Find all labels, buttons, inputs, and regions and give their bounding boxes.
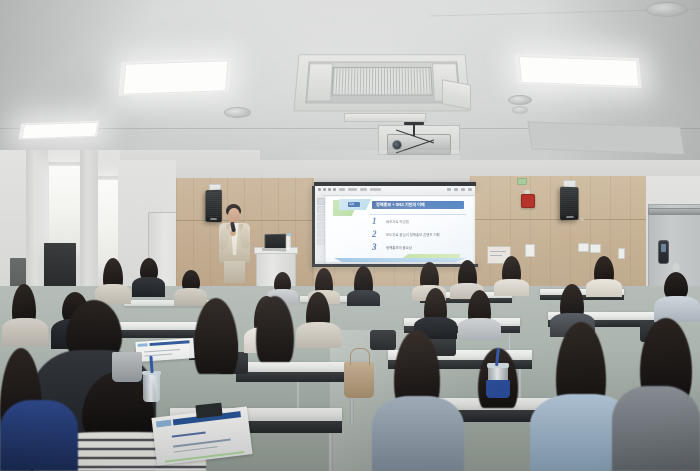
alarm-bell-icon [524,190,530,194]
ceiling-speaker-icon [224,107,251,118]
handout-text-line [144,349,180,353]
slide-item-text: 보도자료 중심의 정책홍보 콘텐츠 기획 [386,233,440,237]
door-keypad-lock[interactable] [658,240,669,264]
ceiling-vent-icon [512,106,528,114]
water-bottle [286,236,291,250]
speaker-badge [210,218,217,220]
desk-leg [328,433,333,471]
bag-on-chair [112,352,142,382]
door-closer-bar [648,208,700,215]
slide-thumbnail[interactable] [317,198,325,205]
window-blind [48,165,82,245]
slide-item-number: 2 [372,229,377,239]
ac-lower-vane [344,113,427,122]
toolbar-dot [323,188,326,191]
handbag-strap [350,348,370,365]
laptop-base [262,248,286,251]
handout-text-line [174,446,218,452]
toolbar-menu[interactable] [339,188,381,191]
printed-handout[interactable] [135,338,194,362]
slide-badge-label: 목차 [349,202,355,207]
attendee-shoulders [494,279,529,296]
slide-footer-band [334,258,466,262]
attendee-shoulders [372,396,464,471]
lecture-room-photo: 목차 정책홍보 + SNS 기반의 이해 1 배포자료 작성법 2 보도자료 중… [0,0,700,471]
slide-divider [370,214,466,215]
cup-sleeve [486,380,510,398]
attendee-shoulders [0,400,78,471]
attendee-shoulders [2,318,48,346]
led-panel-light-off [527,121,684,154]
slide-thumbnail[interactable] [317,206,325,213]
wall-outlet-plate[interactable] [590,244,601,253]
toolbar-button [447,188,451,191]
slide-badge: 목차 [348,202,360,207]
projection-screen: 목차 정책홍보 + SNS 기반의 이해 1 배포자료 작성법 2 보도자료 중… [315,186,475,264]
menu-item [360,188,367,191]
wall-sensor-icon [618,248,625,259]
led-panel-light [519,56,640,87]
projector-lens-icon [392,140,402,150]
bottle-cap [287,233,291,236]
attendee-shoulders [296,322,341,348]
wall-switch-plate[interactable] [525,244,535,257]
toolbar-button [461,188,465,191]
attendee-shoulders [174,288,207,306]
slide-item-text: 배포자료 작성법 [386,220,409,224]
speaker-mesh-icon [561,188,577,215]
iced-drink-cup [143,374,160,402]
ac-grill-icon [331,67,432,95]
current-slide: 목차 정책홍보 + SNS 기반의 이해 1 배포자료 작성법 2 보도자료 중… [326,197,473,262]
projector-ceiling-plate [404,122,424,125]
handout-tab [156,420,172,428]
wall-speaker-left [205,190,221,223]
wood-panel-seam [176,220,314,221]
projector-mount-arm [413,124,415,136]
handout-tab [138,343,148,347]
toolbar-controls[interactable] [318,188,336,191]
attendee-shoulders [347,290,380,306]
handout-text-line [172,432,206,438]
speaker-badge [566,216,574,218]
keypad-screen-icon [661,244,666,252]
slide-thumbnail-panel[interactable] [315,195,325,264]
toolbar-button [468,188,472,191]
handout-title-band [149,340,189,346]
toolbar-dot [328,188,331,191]
toolbar-right-controls[interactable] [447,188,472,191]
slide-thumbnail[interactable] [317,230,325,237]
slide-thumbnail[interactable] [317,214,325,221]
toolbar-button [454,188,458,191]
slide-title: 정책홍보 + SNS 기반의 이해 [376,202,425,208]
chair [370,330,396,350]
toolbar-dot [318,188,321,191]
notice-text-line [490,255,502,256]
led-panel-light [21,122,98,140]
ceiling-speaker-icon [508,95,532,105]
ac-vane [306,63,333,101]
slide-thumbnail[interactable] [317,222,325,229]
menu-item [348,188,357,191]
menu-item [370,188,381,191]
slide-thumbnail[interactable] [317,238,325,245]
slide-item-number: 3 [372,242,377,252]
smartphone[interactable] [195,403,222,419]
notice-text-line [490,251,506,252]
presentation-toolbar [315,186,475,196]
menu-item [339,188,345,191]
wall-speaker-right [560,187,578,221]
handout-text-line [173,439,231,448]
wall-outlet-plate[interactable] [578,243,589,252]
ceiling-speaker-icon [646,2,688,17]
presenter-lower-body [224,261,245,283]
speaker-mesh-icon [206,191,220,217]
attendee-shoulders [458,318,501,340]
attendee-shoulders [132,277,165,297]
slide-item-number: 1 [372,216,377,226]
fire-alarm-icon [521,194,535,208]
wall-marker [580,218,584,221]
wood-panel-seam [470,219,648,220]
screen-bottom-edge [312,264,478,267]
attendee-shoulders [612,386,700,471]
attendee-shoulders [586,279,622,297]
ac-side-panel [442,79,471,110]
handbag [344,362,374,398]
led-panel-light [122,60,228,95]
toolbar-dot [333,188,336,191]
slide-item-text: 정책홍보의 중요성 [386,246,412,250]
indicator-light-icon [517,178,527,185]
